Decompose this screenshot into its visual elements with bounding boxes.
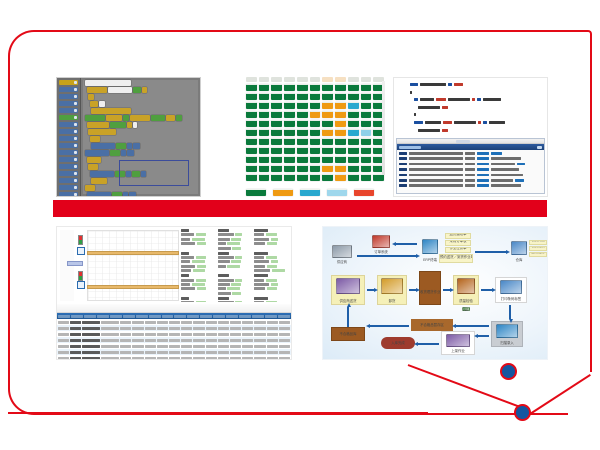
- grid-cell-9-8[interactable]: [348, 165, 359, 172]
- form-field-value[interactable]: [266, 233, 277, 236]
- grid-cell-9-1[interactable]: [259, 165, 270, 172]
- grid-cell-6-0[interactable]: [246, 138, 257, 145]
- table-column-header-12[interactable]: [213, 315, 225, 318]
- form-field-value[interactable]: [197, 287, 206, 290]
- grid-cell-9-5[interactable]: [310, 165, 321, 172]
- table-column-header-11[interactable]: [200, 315, 212, 318]
- form-field-value[interactable]: [196, 301, 206, 302]
- block-segment-9-3[interactable]: [133, 143, 140, 149]
- form-field-1-1-3[interactable]: [218, 265, 253, 268]
- palette-block-6[interactable]: [59, 122, 78, 127]
- grid-cell-6-7[interactable]: [335, 138, 346, 145]
- block-segment-9-1[interactable]: [116, 143, 126, 149]
- form-field-value[interactable]: [192, 260, 205, 263]
- grid-cell-8-5[interactable]: [310, 156, 321, 163]
- table-column-header-15[interactable]: [252, 315, 264, 318]
- table-column-header-2[interactable]: [84, 315, 96, 318]
- task-bar-2[interactable]: [87, 285, 179, 289]
- block-segment-16-1[interactable]: [112, 192, 122, 197]
- data-table[interactable]: [57, 304, 291, 359]
- grid-cell-2-0[interactable]: [246, 102, 257, 109]
- form-group-3[interactable]: [181, 297, 289, 302]
- palette-block-7[interactable]: [59, 129, 78, 134]
- grid-cell-5-9[interactable]: [361, 129, 372, 136]
- palette-block-2[interactable]: [59, 94, 78, 99]
- grid-cell-4-0[interactable]: [246, 120, 257, 127]
- block-segment-5-6[interactable]: [176, 115, 182, 121]
- form-field-3-2-1[interactable]: [254, 301, 289, 302]
- grid-cell-8-2[interactable]: [271, 156, 282, 163]
- form-field-value[interactable]: [232, 247, 241, 250]
- grid-cell-5-1[interactable]: [259, 129, 270, 136]
- grid-cell-1-0[interactable]: [246, 93, 257, 100]
- grid-cell-4-8[interactable]: [348, 120, 359, 127]
- grid-cell-8-1[interactable]: [259, 156, 270, 163]
- grid-cell-2-8[interactable]: [348, 102, 359, 109]
- grid-cell-0-4[interactable]: [297, 84, 308, 91]
- grid-cell-7-6[interactable]: [322, 147, 333, 154]
- grid-cell-1-8[interactable]: [348, 93, 359, 100]
- grid-cell-2-5[interactable]: [310, 102, 321, 109]
- grid-cell-4-2[interactable]: [271, 120, 282, 127]
- grid-cell-10-3[interactable]: [284, 174, 295, 181]
- form-field-3-1-1[interactable]: [218, 301, 253, 302]
- grid-cell-4-1[interactable]: [259, 120, 270, 127]
- form-field-1-2-0[interactable]: [254, 252, 289, 255]
- palette-block-8[interactable]: [59, 136, 78, 141]
- grid-cell-8-4[interactable]: [297, 156, 308, 163]
- form-field-value[interactable]: [232, 292, 241, 295]
- form-field-2-2-2[interactable]: [254, 283, 289, 286]
- form-field-2-2-1[interactable]: [254, 279, 289, 282]
- block-segment-5-5[interactable]: [166, 115, 175, 121]
- form-field-2-2-0[interactable]: [254, 274, 289, 277]
- table-column-header-8[interactable]: [162, 315, 174, 318]
- table-column-header-1[interactable]: [71, 315, 83, 318]
- form-field-0-1-3[interactable]: [218, 242, 253, 245]
- form-field-2-0-0[interactable]: [181, 274, 216, 277]
- form-field-2-2-3[interactable]: [254, 287, 289, 290]
- grid-cell-8-7[interactable]: [335, 156, 346, 163]
- detail-form-panels[interactable]: [181, 229, 289, 302]
- form-field-1-1-2[interactable]: [218, 260, 253, 263]
- grid-cell-3-2[interactable]: [271, 111, 282, 118]
- grid-cell-4-9[interactable]: [361, 120, 372, 127]
- table-column-header-10[interactable]: [187, 315, 199, 318]
- form-field-0-0-0[interactable]: [181, 229, 216, 232]
- block-segment-14-0[interactable]: [91, 178, 107, 184]
- grid-cell-1-6[interactable]: [322, 93, 333, 100]
- task-bar-1[interactable]: [87, 251, 179, 255]
- table-column-header-6[interactable]: [136, 315, 148, 318]
- form-field-0-2-0[interactable]: [254, 229, 289, 232]
- form-field-value[interactable]: [266, 301, 277, 302]
- grid-cell-1-2[interactable]: [271, 93, 282, 100]
- form-group-1[interactable]: [181, 252, 289, 273]
- form-field-value[interactable]: [266, 279, 277, 282]
- block-segment-10-3[interactable]: [127, 150, 134, 156]
- block-segment-8-0[interactable]: [90, 136, 100, 142]
- grid-cell-0-3[interactable]: [284, 84, 295, 91]
- block-row-16[interactable]: [87, 192, 199, 197]
- table-body[interactable]: [57, 319, 291, 360]
- form-field-value[interactable]: [231, 238, 241, 241]
- grid-cell-0-6[interactable]: [322, 84, 333, 91]
- form-field-value[interactable]: [196, 233, 206, 236]
- grid-cell-2-4[interactable]: [297, 102, 308, 109]
- grid-cell-10-6[interactable]: [322, 174, 333, 181]
- grid-cell-9-6[interactable]: [322, 165, 333, 172]
- form-field-value[interactable]: [235, 233, 242, 236]
- block-segment-10-1[interactable]: [110, 150, 120, 156]
- block-segment-15-0[interactable]: [85, 185, 95, 191]
- block-segment-3-1[interactable]: [99, 101, 105, 107]
- grid-cell-9-0[interactable]: [246, 165, 257, 172]
- grid-cell-0-7[interactable]: [335, 84, 346, 91]
- palette-block-13[interactable]: [59, 171, 78, 176]
- grid-cell-10-2[interactable]: [271, 174, 282, 181]
- form-field-value[interactable]: [235, 301, 242, 302]
- status-grid-body[interactable]: [245, 82, 385, 181]
- status-grid-screenshot[interactable]: [245, 77, 385, 197]
- block-segment-9-2[interactable]: [127, 143, 132, 149]
- block-segment-16-0[interactable]: [87, 192, 111, 197]
- grid-cell-5-4[interactable]: [297, 129, 308, 136]
- grid-cell-6-6[interactable]: [322, 138, 333, 145]
- grid-cell-5-6[interactable]: [322, 129, 333, 136]
- palette-block-1[interactable]: [59, 87, 78, 92]
- grid-cell-9-9[interactable]: [361, 165, 372, 172]
- block-segment-5-0[interactable]: [85, 115, 105, 121]
- block-row-8[interactable]: [90, 136, 199, 142]
- form-field-value[interactable]: [197, 265, 206, 268]
- table-column-header-9[interactable]: [174, 315, 186, 318]
- station-node-1[interactable]: [77, 247, 85, 255]
- form-field-value[interactable]: [193, 269, 205, 272]
- form-field-value[interactable]: [271, 260, 278, 263]
- form-field-0-0-2[interactable]: [181, 238, 216, 241]
- block-row-5[interactable]: [85, 115, 198, 121]
- grid-cell-8-3[interactable]: [284, 156, 295, 163]
- block-segment-1-0[interactable]: [87, 87, 107, 93]
- grid-cell-10-8[interactable]: [348, 174, 359, 181]
- block-segment-0-0[interactable]: [85, 80, 131, 86]
- grid-cell-7-3[interactable]: [284, 147, 295, 154]
- block-segment-11-0[interactable]: [87, 157, 101, 163]
- grid-cell-2-1[interactable]: [259, 102, 270, 109]
- form-field-value[interactable]: [231, 283, 241, 286]
- grid-cell-7-4[interactable]: [297, 147, 308, 154]
- palette-block-12[interactable]: [59, 164, 78, 169]
- grid-cell-1-5[interactable]: [310, 93, 321, 100]
- block-segment-5-1[interactable]: [106, 115, 122, 121]
- schedule-table-screenshot[interactable]: [56, 226, 292, 360]
- grid-cell-8-0[interactable]: [246, 156, 257, 163]
- grid-cell-9-2[interactable]: [271, 165, 282, 172]
- form-field-value[interactable]: [267, 287, 277, 290]
- grid-cell-0-5[interactable]: [310, 84, 321, 91]
- block-segment-5-3[interactable]: [130, 115, 150, 121]
- grid-cell-10-7[interactable]: [335, 174, 346, 181]
- grid-cell-3-5[interactable]: [310, 111, 321, 118]
- palette-block-5[interactable]: [59, 115, 78, 120]
- table-column-header-4[interactable]: [110, 315, 122, 318]
- form-field-value[interactable]: [266, 256, 277, 259]
- block-segment-13-0[interactable]: [90, 171, 114, 177]
- form-field-0-2-3[interactable]: [254, 242, 289, 245]
- console-log-list[interactable]: [397, 151, 544, 187]
- grid-cell-7-2[interactable]: [271, 147, 282, 154]
- table-column-header-13[interactable]: [226, 315, 238, 318]
- form-field-1-1-1[interactable]: [218, 256, 253, 259]
- grid-cell-6-9[interactable]: [361, 138, 372, 145]
- table-column-header-5[interactable]: [123, 315, 135, 318]
- form-field-1-1-0[interactable]: [218, 252, 253, 255]
- grid-cell-6-5[interactable]: [310, 138, 321, 145]
- grid-cell-7-7[interactable]: [335, 147, 346, 154]
- grid-cell-5-8[interactable]: [348, 129, 359, 136]
- form-field-value[interactable]: [272, 269, 285, 272]
- grid-cell-2-7[interactable]: [335, 102, 346, 109]
- form-group-0[interactable]: [181, 229, 289, 250]
- palette-block-16[interactable]: [59, 192, 78, 197]
- form-field-0-2-1[interactable]: [254, 233, 289, 236]
- grid-cell-4-7[interactable]: [335, 120, 346, 127]
- grid-cell-0-0[interactable]: [246, 84, 257, 91]
- palette-block-10[interactable]: [59, 150, 78, 155]
- station-node-2[interactable]: [77, 281, 85, 289]
- form-field-value[interactable]: [227, 287, 240, 290]
- gantt-grid-area[interactable]: [87, 230, 179, 301]
- grid-cell-3-6[interactable]: [322, 111, 333, 118]
- block-row-6[interactable]: [87, 122, 199, 128]
- block-segment-5-4[interactable]: [151, 115, 165, 121]
- block-segment-3-0[interactable]: [90, 101, 98, 107]
- form-field-0-1-0[interactable]: [218, 229, 253, 232]
- grid-cell-7-0[interactable]: [246, 147, 257, 154]
- palette-block-15[interactable]: [59, 185, 78, 190]
- block-segment-16-2[interactable]: [123, 192, 128, 197]
- form-field-3-0-0[interactable]: [181, 297, 216, 300]
- grid-cell-4-5[interactable]: [310, 120, 321, 127]
- form-field-1-0-0[interactable]: [181, 252, 216, 255]
- grid-cell-1-3[interactable]: [284, 93, 295, 100]
- block-row-10[interactable]: [85, 150, 198, 156]
- palette-block-4[interactable]: [59, 108, 78, 113]
- grid-cell-10-9[interactable]: [361, 174, 372, 181]
- palette-block-11[interactable]: [59, 157, 78, 162]
- block-segment-10-2[interactable]: [121, 150, 126, 156]
- grid-cell-6-2[interactable]: [271, 138, 282, 145]
- table-row[interactable]: [57, 355, 291, 360]
- grid-cell-5-2[interactable]: [271, 129, 282, 136]
- form-field-value[interactable]: [271, 238, 278, 241]
- form-field-3-0-1[interactable]: [181, 301, 216, 302]
- grid-cell-2-2[interactable]: [271, 102, 282, 109]
- grid-cell-10-1[interactable]: [259, 174, 270, 181]
- palette-block-9[interactable]: [59, 143, 78, 148]
- grid-cell-5-7[interactable]: [335, 129, 346, 136]
- console-output-window[interactable]: [396, 138, 545, 194]
- grid-cell-10-4[interactable]: [297, 174, 308, 181]
- form-field-value[interactable]: [192, 238, 205, 241]
- blocks-editor-screenshot[interactable]: [56, 77, 201, 197]
- grid-cell-10-5[interactable]: [310, 174, 321, 181]
- form-field-0-2-2[interactable]: [254, 238, 289, 241]
- grid-cell-3-8[interactable]: [348, 111, 359, 118]
- block-row-1[interactable]: [87, 87, 199, 93]
- code-editor-screenshot[interactable]: [393, 77, 548, 197]
- status-grid-scrollbar[interactable]: [382, 81, 385, 175]
- form-field-value[interactable]: [231, 260, 241, 263]
- block-row-2[interactable]: [88, 94, 198, 100]
- form-field-2-1-3[interactable]: [218, 287, 253, 290]
- form-field-3-1-0[interactable]: [218, 297, 253, 300]
- grid-cell-8-9[interactable]: [361, 156, 372, 163]
- grid-cell-8-6[interactable]: [322, 156, 333, 163]
- form-field-2-1-4[interactable]: [218, 292, 253, 295]
- block-row-0[interactable]: [85, 80, 198, 86]
- grid-cell-0-9[interactable]: [361, 84, 372, 91]
- form-field-0-1-4[interactable]: [218, 247, 253, 250]
- form-field-value[interactable]: [271, 283, 278, 286]
- form-field-value[interactable]: [197, 242, 206, 245]
- block-segment-9-0[interactable]: [91, 143, 115, 149]
- grid-cell-1-9[interactable]: [361, 93, 372, 100]
- block-row-9[interactable]: [91, 143, 198, 149]
- form-field-1-0-2[interactable]: [181, 260, 216, 263]
- grid-cell-4-3[interactable]: [284, 120, 295, 127]
- grid-cell-3-7[interactable]: [335, 111, 346, 118]
- form-field-0-1-2[interactable]: [218, 238, 253, 241]
- form-field-value[interactable]: [196, 279, 206, 282]
- grid-cell-6-1[interactable]: [259, 138, 270, 145]
- grid-cell-7-1[interactable]: [259, 147, 270, 154]
- grid-cell-3-1[interactable]: [259, 111, 270, 118]
- form-field-value[interactable]: [267, 265, 277, 268]
- grid-cell-1-1[interactable]: [259, 93, 270, 100]
- grid-cell-9-7[interactable]: [335, 165, 346, 172]
- form-field-1-0-3[interactable]: [181, 265, 216, 268]
- form-field-0-0-1[interactable]: [181, 233, 216, 236]
- form-field-3-2-0[interactable]: [254, 297, 289, 300]
- table-column-header-14[interactable]: [239, 315, 251, 318]
- form-field-value[interactable]: [192, 283, 205, 286]
- palette-block-3[interactable]: [59, 101, 78, 106]
- table-column-header-17[interactable]: [278, 315, 290, 318]
- form-field-2-1-1[interactable]: [218, 279, 253, 282]
- table-toolbar[interactable]: [57, 304, 291, 313]
- grid-cell-3-4[interactable]: [297, 111, 308, 118]
- grid-cell-2-9[interactable]: [361, 102, 372, 109]
- grid-cell-0-8[interactable]: [348, 84, 359, 91]
- grid-cell-1-7[interactable]: [335, 93, 346, 100]
- form-field-value[interactable]: [227, 242, 240, 245]
- block-segment-4-0[interactable]: [91, 108, 131, 114]
- form-field-1-2-3[interactable]: [254, 265, 289, 268]
- grid-cell-7-9[interactable]: [361, 147, 372, 154]
- grid-cell-8-8[interactable]: [348, 156, 359, 163]
- block-segment-6-1[interactable]: [110, 122, 126, 128]
- grid-cell-6-8[interactable]: [348, 138, 359, 145]
- form-field-2-0-2[interactable]: [181, 283, 216, 286]
- grid-cell-9-3[interactable]: [284, 165, 295, 172]
- block-segment-12-0[interactable]: [88, 164, 98, 170]
- form-field-2-1-2[interactable]: [218, 283, 253, 286]
- grid-cell-6-4[interactable]: [297, 138, 308, 145]
- grid-cell-3-3[interactable]: [284, 111, 295, 118]
- form-field-1-0-4[interactable]: [181, 269, 216, 272]
- form-field-0-0-3[interactable]: [181, 242, 216, 245]
- grid-cell-7-5[interactable]: [310, 147, 321, 154]
- block-segment-6-0[interactable]: [87, 122, 109, 128]
- block-segment-6-3[interactable]: [133, 122, 137, 128]
- grid-cell-2-6[interactable]: [322, 102, 333, 109]
- grid-cell-4-6[interactable]: [322, 120, 333, 127]
- code-editor-text-area[interactable]: [394, 78, 547, 136]
- form-field-value[interactable]: [267, 242, 277, 245]
- grid-cell-1-4[interactable]: [297, 93, 308, 100]
- form-group-2[interactable]: [181, 274, 289, 295]
- process-flow-screenshot[interactable]: 供应商订单系统ERP终端送货通知单采购订单表作业任务单预约送货／到货作业单仓库收…: [322, 226, 548, 360]
- grid-cell-7-8[interactable]: [348, 147, 359, 154]
- table-column-header-7[interactable]: [149, 315, 161, 318]
- grid-cell-3-0[interactable]: [246, 111, 257, 118]
- block-row-3[interactable]: [90, 101, 199, 107]
- grid-cell-4-4[interactable]: [297, 120, 308, 127]
- form-field-value[interactable]: [235, 279, 242, 282]
- block-segment-1-3[interactable]: [142, 87, 147, 93]
- form-field-2-1-0[interactable]: [218, 274, 253, 277]
- grid-cell-5-0[interactable]: [246, 129, 257, 136]
- grid-cell-9-4[interactable]: [297, 165, 308, 172]
- block-segment-1-1[interactable]: [108, 87, 132, 93]
- grid-cell-5-5[interactable]: [310, 129, 321, 136]
- block-row-4[interactable]: [91, 108, 198, 114]
- form-field-value[interactable]: [227, 265, 240, 268]
- block-segment-16-3[interactable]: [129, 192, 136, 197]
- grid-cell-3-9[interactable]: [361, 111, 372, 118]
- palette-block-14[interactable]: [59, 178, 78, 183]
- grid-cell-6-3[interactable]: [284, 138, 295, 145]
- grid-cell-10-10[interactable]: [373, 174, 384, 181]
- form-field-1-2-2[interactable]: [254, 260, 289, 263]
- gantt-board[interactable]: [57, 227, 291, 305]
- blocks-palette[interactable]: [57, 78, 81, 196]
- table-column-header-16[interactable]: [265, 315, 277, 318]
- grid-cell-2-3[interactable]: [284, 102, 295, 109]
- form-field-value[interactable]: [235, 256, 242, 259]
- table-column-header-3[interactable]: [97, 315, 109, 318]
- form-field-2-0-1[interactable]: [181, 279, 216, 282]
- form-field-2-0-3[interactable]: [181, 287, 216, 290]
- block-segment-1-2[interactable]: [133, 87, 141, 93]
- grid-cell-0-1[interactable]: [259, 84, 270, 91]
- form-field-0-1-1[interactable]: [218, 233, 253, 236]
- block-segment-5-2[interactable]: [123, 115, 129, 121]
- block-segment-10-0[interactable]: [85, 150, 109, 156]
- block-row-7[interactable]: [88, 129, 198, 135]
- block-segment-2-0[interactable]: [88, 94, 94, 100]
- grid-cell-5-3[interactable]: [284, 129, 295, 136]
- form-field-1-0-1[interactable]: [181, 256, 216, 259]
- form-field-value[interactable]: [196, 256, 206, 259]
- form-field-1-2-4[interactable]: [254, 269, 289, 272]
- grid-cell-0-2[interactable]: [271, 84, 282, 91]
- block-segment-7-0[interactable]: [88, 129, 116, 135]
- table-column-header-0[interactable]: [58, 315, 70, 318]
- form-field-1-2-1[interactable]: [254, 256, 289, 259]
